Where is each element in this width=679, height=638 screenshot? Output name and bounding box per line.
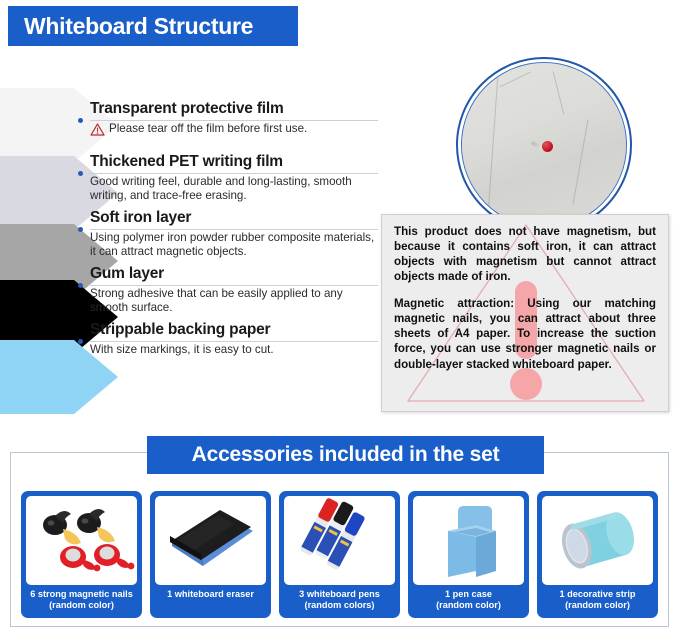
accessory-caption: 1 whiteboard eraser (152, 585, 269, 605)
accessory-caption: 1 decorative strip (random color) (539, 585, 656, 616)
layer-item: Gum layer Strong adhesive that can be ea… (78, 265, 378, 315)
accessories-title: Accessories included in the set (192, 443, 500, 467)
layer-title: Transparent protective film (78, 100, 378, 119)
layer-title: Gum layer (78, 265, 378, 284)
layer-divider (90, 229, 378, 230)
page-title: Whiteboard Structure (24, 13, 253, 40)
bullet-dot-icon (78, 118, 83, 123)
layer-divider (90, 341, 378, 342)
bullet-dot-icon (78, 339, 83, 344)
accessory-card-pen-case[interactable]: 1 pen case (random color) (408, 491, 529, 618)
accessory-card-magnetic-nails[interactable]: 6 strong magnetic nails (random color) (21, 491, 142, 618)
layer-item: Strippable backing paper With size marki… (78, 321, 378, 357)
layer-divider (90, 285, 378, 286)
accessory-sublabel: (random color) (25, 600, 138, 611)
accessory-label: 1 whiteboard eraser (167, 589, 254, 599)
layer-item: Soft iron layer Using polymer iron powde… (78, 209, 378, 259)
page-title-banner: Whiteboard Structure (8, 6, 298, 46)
accessory-label: 6 strong magnetic nails (30, 589, 133, 599)
decorative-tape-icon (543, 498, 653, 583)
accessory-thumbnail (284, 496, 395, 585)
accessory-thumbnail (542, 496, 653, 585)
accessory-caption: 6 strong magnetic nails (random color) (23, 585, 140, 616)
whiteboard-photo (456, 57, 632, 233)
layer-title: Soft iron layer (78, 209, 378, 228)
bullet-dot-icon (78, 283, 83, 288)
layer-item: Transparent protective film Please tear … (78, 100, 378, 141)
whiteboard-eraser-icon (156, 498, 266, 583)
layer-title: Strippable backing paper (78, 321, 378, 340)
accessory-caption: 3 whiteboard pens (random colors) (281, 585, 398, 616)
warning-triangle-icon (90, 123, 105, 141)
whiteboard-pens-icon (285, 498, 395, 583)
info-paragraph-1: This product does not have magnetism, bu… (394, 224, 656, 284)
info-paragraph-2: Magnetic attraction: Using our matching … (394, 296, 656, 371)
accessory-label: 1 decorative strip (559, 589, 635, 599)
accessory-thumbnail (413, 496, 524, 585)
accessory-thumbnail (155, 496, 266, 585)
accessory-caption: 1 pen case (random color) (410, 585, 527, 616)
layer-description: Using polymer iron powder rubber composi… (78, 231, 378, 259)
layer-divider (90, 120, 378, 121)
layer-item: Thickened PET writing film Good writing … (78, 153, 378, 203)
magnetism-info-box: This product does not have magnetism, bu… (381, 214, 669, 412)
accessory-label: 1 pen case (445, 589, 492, 599)
pen-case-icon (414, 498, 524, 583)
accessory-sublabel: (random color) (412, 600, 525, 611)
layer-warning-row: Please tear off the film before first us… (78, 122, 378, 141)
accessories-title-banner: Accessories included in the set (147, 436, 544, 474)
layer-divider (90, 173, 378, 174)
layer-description: Strong adhesive that can be easily appli… (78, 287, 378, 315)
layer-title: Thickened PET writing film (78, 153, 378, 172)
accessory-card-decorative-strip[interactable]: 1 decorative strip (random color) (537, 491, 658, 618)
layer-description: Please tear off the film before first us… (109, 122, 307, 136)
accessory-sublabel: (random color) (541, 600, 654, 611)
bullet-dot-icon (78, 227, 83, 232)
accessory-sublabel: (random colors) (283, 600, 396, 611)
layer-description-list: Transparent protective film Please tear … (78, 100, 378, 359)
layer-description: Good writing feel, durable and long-last… (78, 175, 378, 203)
accessory-card-whiteboard-eraser[interactable]: 1 whiteboard eraser (150, 491, 271, 618)
accessory-thumbnail (26, 496, 137, 585)
accessory-card-whiteboard-pens[interactable]: 3 whiteboard pens (random colors) (279, 491, 400, 618)
accessory-label: 3 whiteboard pens (299, 589, 380, 599)
layer-description: With size markings, it is easy to cut. (78, 343, 378, 357)
magnetic-nails-icon (27, 498, 137, 583)
photo-outer-ring (456, 57, 632, 233)
bullet-dot-icon (78, 171, 83, 176)
accessories-card-row: 6 strong magnetic nails (random color) 1… (21, 491, 658, 618)
